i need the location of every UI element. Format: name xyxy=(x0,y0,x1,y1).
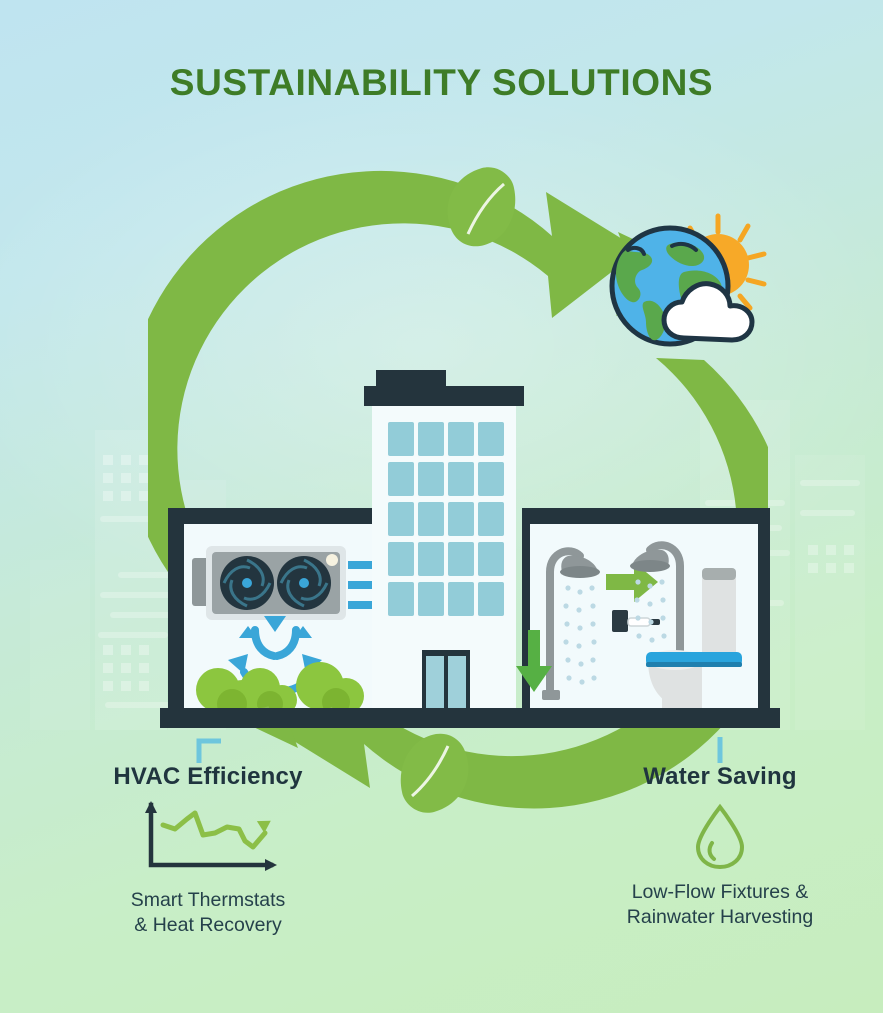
infographic-canvas: SUSTAINABILITY SOLUTIONS xyxy=(0,0,883,1013)
trend-arrowhead xyxy=(257,815,275,833)
hvac-efficiency-column: HVAC Efficiency Smart Thermstats & Heat … xyxy=(48,735,368,938)
y-axis-arrowhead xyxy=(145,801,157,813)
vertical-tick-icon xyxy=(715,737,725,763)
water-saving-column: Water Saving Low-Flow Fixtures & Rainwat… xyxy=(570,735,870,930)
hvac-subtitle: Smart Thermstats & Heat Recovery xyxy=(48,888,368,938)
building-entrance-doors xyxy=(422,650,470,708)
hvac-unit-icon xyxy=(192,546,346,620)
x-axis-arrowhead xyxy=(265,859,277,871)
globe-sun-cloud-group xyxy=(598,210,768,360)
water-heading: Water Saving xyxy=(570,763,870,791)
ground-bar xyxy=(160,708,780,728)
trend-line xyxy=(163,813,265,847)
water-subtitle-line1: Low-Flow Fixtures & xyxy=(570,880,870,905)
water-subtitle: Low-Flow Fixtures & Rainwater Harvesting xyxy=(570,880,870,930)
line-chart-icon xyxy=(133,799,283,879)
hvac-subtitle-line1: Smart Thermstats xyxy=(48,888,368,913)
central-office-building xyxy=(364,370,524,708)
corner-bracket-icon xyxy=(195,737,221,763)
water-room-panel xyxy=(516,508,770,708)
building-scene xyxy=(150,360,790,730)
hvac-heading: HVAC Efficiency xyxy=(48,763,368,791)
roof-slab xyxy=(364,386,524,406)
water-drop-icon xyxy=(690,799,750,871)
page-title: SUSTAINABILITY SOLUTIONS xyxy=(0,62,883,104)
water-subtitle-line2: Rainwater Harvesting xyxy=(570,905,870,930)
hvac-subtitle-line2: & Heat Recovery xyxy=(48,913,368,938)
hvac-room-panel xyxy=(168,508,390,719)
